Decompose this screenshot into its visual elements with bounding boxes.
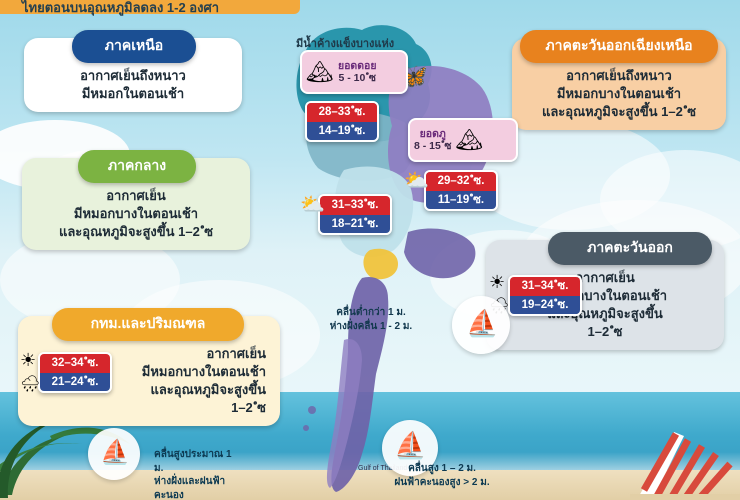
region-central-title[interactable]: ภาคกลาง [78,150,196,183]
region-central-body: อากาศเย็น มีหมอกบางในตอนเช้า และอุณหภูมิ… [22,180,250,250]
sun-rain-icon-central: ⛅ [300,192,325,217]
sea-note-andaman-line-1: คลื่นสูงประมาณ 1 ม. [154,448,236,475]
region-north-title[interactable]: ภาคเหนือ [72,30,196,63]
rain-icon-bangkok: 🌧 [20,374,40,394]
temp-high-central: 31–33 ํซ. [320,196,390,215]
temp-chip-bangkok: 32–34 ํซ. 21–24 ํซ. [38,352,112,393]
infographic-canvas: Gulf of Thailand 🦋 ไทยตอนบนอุณหภูมิลดลง … [0,0,740,500]
peak-phu-value: 8 - 15 ํซ [414,140,452,152]
region-bangkok-title[interactable]: กทม.และปริมณฑล [52,308,244,341]
sea-note-gulf-lower: คลื่นสูง 1 – 2 ม. ฝนฟ้าคะนองสูง > 2 ม. [372,462,512,489]
temp-low-east: 19–24 ํซ. [510,296,580,315]
peak-badge-doi[interactable]: 🏔 ยอดดอย 5 - 10 ํซ [300,50,408,94]
region-east-line-4: 1–2 ํซ [496,323,714,341]
temp-high-east: 31–34 ํซ. [510,277,580,296]
temp-high-bangkok: 32–34 ํซ. [40,354,110,373]
region-bangkok-line-2: มีหมอกบางในตอนเช้า [104,363,266,381]
region-northeast-line-2: มีหมอกบางในตอนเช้า [522,85,716,103]
peak-badge-phu[interactable]: ยอดภู 8 - 15 ํซ 🏔 [408,118,518,162]
region-bangkok-line-1: อากาศเย็น [104,345,266,363]
sea-note-gulf-lower-line-2: ฝนฟ้าคะนองสูง > 2 ม. [372,476,512,490]
region-central-line-1: อากาศเย็น [32,187,240,205]
region-bangkok-line-3: และอุณหภูมิจะสูงขึ้น [104,381,266,399]
sea-note-gulf-upper-line-1: คลื่นต่ำกว่า 1 ม. [316,306,426,320]
mountain-icon: 🏔 [306,59,334,85]
sea-note-gulf-lower-line-1: คลื่นสูง 1 – 2 ม. [372,462,512,476]
sun-icon-east: ☀ [489,272,505,293]
sea-note-andaman: คลื่นสูงประมาณ 1 ม. ห่างฝั่งและฝนฟ้าคะนอ… [96,448,236,500]
region-east-title[interactable]: ภาคตะวันออก [548,232,712,265]
region-central-line-3: และอุณหภูมิจะสูงขึ้น 1–2 ํซ [32,223,240,241]
region-northeast-title[interactable]: ภาคตะวันออกเฉียงเหนือ [520,30,718,63]
sea-note-gulf-upper: คลื่นต่ำกว่า 1 ม. ห่างฝั่งคลื่น 1 - 2 ม. [316,306,426,333]
region-central-line-2: มีหมอกบางในตอนเช้า [32,205,240,223]
sun-icon-bangkok: ☀ [20,350,36,371]
sun-rain-icon-northeast: ⛅ [404,168,429,193]
region-northeast-body: อากาศเย็นถึงหนาว มีหมอกบางในตอนเช้า และอ… [512,60,726,130]
temp-high-north: 28–33 ํซ. [307,103,377,122]
sea-note-gulf-upper-line-2: ห่างฝั่งคลื่น 1 - 2 ม. [316,320,426,334]
peak-doi-value: 5 - 10 ํซ [338,72,376,84]
boat-icon: ⛵ [394,430,426,461]
temp-low-northeast: 11–19 ํซ. [426,191,496,210]
beach-umbrella-decoration [630,420,740,500]
temp-low-bangkok: 21–24 ํซ. [40,373,110,392]
region-north-body: อากาศเย็นถึงหนาว มีหมอกในตอนเช้า [24,60,242,112]
temp-chip-central: 31–33 ํซ. 18–21 ํซ. [318,194,392,235]
peak-doi-label: ยอดดอย [338,60,377,72]
temp-high-northeast: 29–32 ํซ. [426,172,496,191]
region-northeast-line-1: อากาศเย็นถึงหนาว [522,67,716,85]
banner-text: ไทยตอนบนอุณหภูมิลดลง 1-2 องศา [22,0,219,18]
temp-chip-north: 28–33 ํซ. 14–19 ํซ. [305,101,379,142]
temp-low-central: 18–21 ํซ. [320,215,390,234]
region-north-line-2: มีหมอกในตอนเช้า [34,85,232,103]
region-north-line-1: อากาศเย็นถึงหนาว [34,67,232,85]
peak-phu-label: ยอดภู [420,128,446,140]
region-northeast-line-3: และอุณหภูมิจะสูงขึ้น 1–2 ํซ [522,103,716,121]
sea-note-andaman-line-2: ห่างฝั่งและฝนฟ้าคะนอง [154,475,236,500]
mountain-icon: 🏔 [456,127,484,153]
temp-low-north: 14–19 ํซ. [307,122,377,141]
temp-chip-northeast: 29–32 ํซ. 11–19 ํซ. [424,170,498,211]
temp-chip-east: 31–34 ํซ. 19–24 ํซ. [508,275,582,316]
boat-icon: ⛵ [466,308,498,339]
region-bangkok-line-4: 1–2 ํซ [104,399,266,417]
